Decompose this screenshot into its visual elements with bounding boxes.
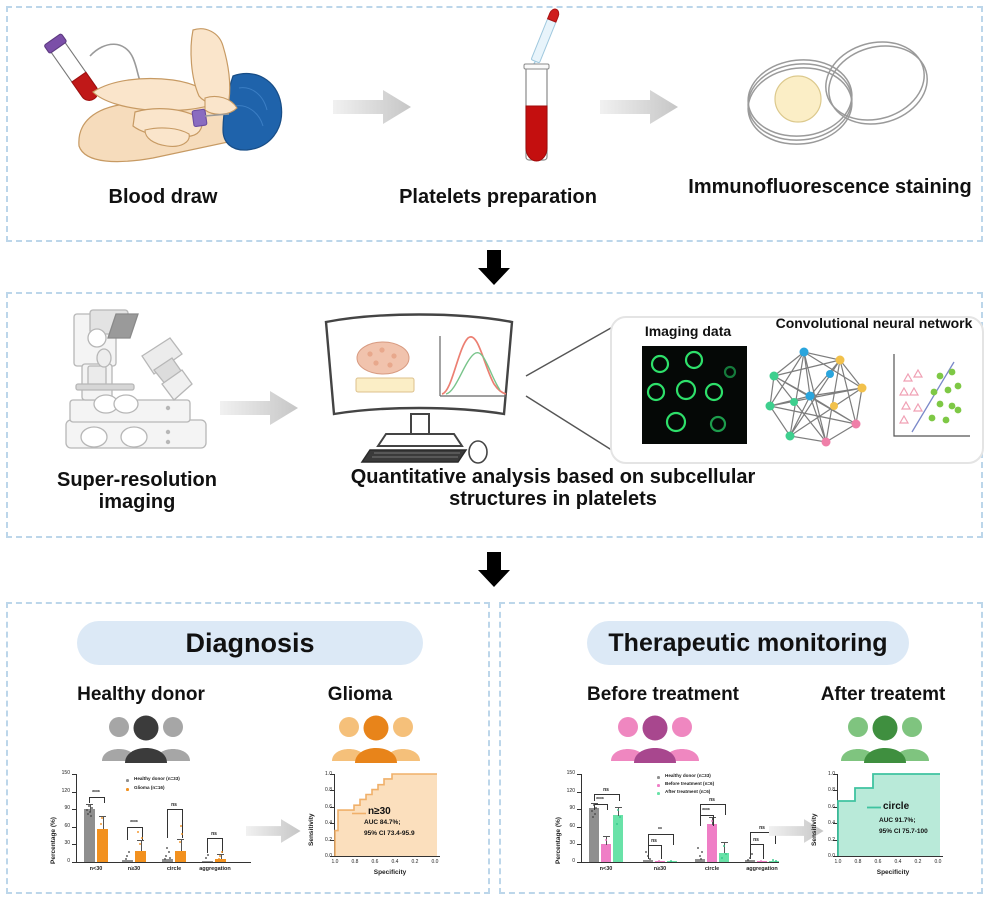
cnn-label: Convolutional neural network: [774, 316, 974, 331]
panel-therapeutic-monitoring: Therapeutic monitoring Before treatment …: [499, 602, 983, 894]
roc-y-ticklabel: 0.6: [310, 804, 332, 810]
x-ticklabel: circle: [156, 866, 192, 872]
roc-xlabel: Specificity: [845, 869, 941, 876]
x-ticklabel: aggregation: [741, 866, 783, 872]
x-ticklabel: n≥30: [642, 866, 678, 872]
roc-y-ticklabel: 0.2: [310, 837, 332, 843]
people-group-before-treatment-icon: [609, 711, 701, 763]
glioma-title: Glioma: [280, 684, 440, 706]
roc-y-ticklabel: 1.0: [813, 771, 835, 777]
analysis-card: Imaging data Convolutional neural networ…: [610, 316, 984, 464]
panel-sample-preparation: Blood draw Platelets preparat: [6, 6, 983, 242]
computer-monitor-icon: [308, 310, 538, 470]
blood-draw-illustration: [33, 18, 333, 168]
roc-x-ticklabel: 1.0: [829, 859, 847, 865]
roc-y-tick: [330, 823, 334, 824]
classifier-scatter-icon: [884, 348, 974, 448]
diagnosis-title: Diagnosis: [185, 628, 314, 659]
roc-y-tick: [330, 790, 334, 791]
diagnosis-bar-chart: Percentage (%) 150 120 90 60 30 0 Health…: [44, 772, 259, 884]
right-arrow-3: [220, 391, 300, 425]
monitoring-roc-curve: Sensitivity 1.0 0.8 0.6 0.4 0.2 0.0 circ…: [807, 770, 967, 888]
x-ticklabel: n<30: [588, 866, 624, 872]
step-label-super-resolution-imaging: Super-resolution imaging: [22, 469, 252, 514]
roc-y-ticklabel: 0.2: [813, 837, 835, 843]
roc-y-tick: [833, 823, 837, 824]
roc-x-axis: [837, 856, 943, 857]
roc-x-ticklabel: 0.8: [346, 859, 364, 865]
roc-y-tick: [833, 856, 837, 857]
roc-y-ticklabel: 0.4: [813, 820, 835, 826]
down-arrow-2: [472, 552, 516, 588]
right-arrow-2: [600, 90, 680, 124]
cnn-graph-icon: [764, 344, 872, 448]
before-treatment-title: Before treatment: [553, 684, 773, 706]
right-arrow-1: [333, 90, 413, 124]
roc-x-ticklabel: 0.0: [426, 859, 444, 865]
roc-x-ticklabel: 0.2: [406, 859, 424, 865]
imaging-data-label: Imaging data: [618, 324, 758, 339]
roc-x-ticklabel: 0.2: [909, 859, 927, 865]
roc-y-ticklabel: 0.6: [813, 804, 835, 810]
people-group-glioma-icon: [330, 711, 422, 763]
people-group-healthy-donor-icon: [100, 711, 192, 763]
roc-y-ticklabel: 1.0: [310, 771, 332, 777]
roc-ci-label: 95% CI 75.7-100: [879, 828, 928, 835]
monitoring-title-pill: Therapeutic monitoring: [587, 621, 909, 665]
graphical-abstract: Blood draw Platelets preparat: [0, 0, 989, 900]
roc-x-ticklabel: 0.6: [869, 859, 887, 865]
roc-ci-label: 95% CI 73.4-95.9: [364, 830, 415, 837]
roc-auc-label: AUC 91.7%;: [879, 817, 915, 824]
diagnosis-title-pill: Diagnosis: [77, 621, 423, 665]
panel-imaging-analysis: Super-resolution imaging: [6, 292, 983, 538]
right-arrow-diagnosis: [246, 819, 302, 843]
step-label-quantitative-analysis: Quantitative analysis based on subcellul…: [308, 466, 798, 511]
people-group-after-treatment-icon: [839, 711, 931, 763]
fluorescence-image: [642, 346, 747, 444]
diagnosis-roc-curve: Sensitivity 1.0 0.8 0.6 0.4 0.2 0.0 n≥30…: [304, 770, 454, 888]
roc-y-tick: [330, 807, 334, 808]
roc-x-ticklabel: 0.0: [929, 859, 947, 865]
x-ticklabel: n≥30: [116, 866, 152, 872]
petri-dish-icon: [720, 26, 970, 166]
microscope-icon: [46, 304, 226, 464]
roc-y-tick: [330, 856, 334, 857]
step-label-platelets-preparation: Platelets preparation: [363, 186, 633, 208]
panel-diagnosis: Diagnosis Healthy donor Glioma: [6, 602, 490, 894]
roc-x-ticklabel: 0.8: [849, 859, 867, 865]
roc-marker-label: circle: [883, 801, 909, 812]
roc-y-tick: [330, 840, 334, 841]
roc-x-ticklabel: 0.4: [386, 859, 404, 865]
blood-tube-pipette-icon: [476, 14, 596, 174]
roc-y-tick: [833, 840, 837, 841]
step-label-immunofluorescence-staining: Immunofluorescence staining: [680, 176, 980, 198]
roc-y-ticklabel: 0.4: [310, 820, 332, 826]
roc-x-ticklabel: 0.4: [889, 859, 907, 865]
roc-x-ticklabel: 1.0: [326, 859, 344, 865]
step-label-blood-draw: Blood draw: [53, 186, 273, 208]
roc-y-tick: [833, 790, 837, 791]
roc-x-ticklabel: 0.6: [366, 859, 384, 865]
roc-y-tick: [833, 807, 837, 808]
roc-xlabel: Specificity: [342, 869, 438, 876]
roc-marker-label: n≥30: [368, 806, 391, 817]
after-treatment-title: After treatemt: [789, 684, 977, 706]
roc-y-tick: [833, 774, 837, 775]
down-arrow-1: [472, 250, 516, 286]
roc-y-ticklabel: 0.8: [813, 787, 835, 793]
healthy-donor-title: Healthy donor: [33, 684, 249, 706]
roc-x-axis: [334, 856, 440, 857]
roc-y-ticklabel: 0.8: [310, 787, 332, 793]
roc-curve-path: [838, 774, 940, 856]
x-ticklabel: circle: [694, 866, 730, 872]
roc-auc-label: AUC 84.7%;: [364, 819, 400, 826]
monitoring-bar-chart: Percentage (%) 150 120 90 60 30 0 Health…: [549, 772, 784, 884]
roc-y-tick: [330, 774, 334, 775]
x-ticklabel: aggregation: [194, 866, 236, 872]
monitoring-title: Therapeutic monitoring: [608, 629, 887, 658]
x-ticklabel: n<30: [78, 866, 114, 872]
